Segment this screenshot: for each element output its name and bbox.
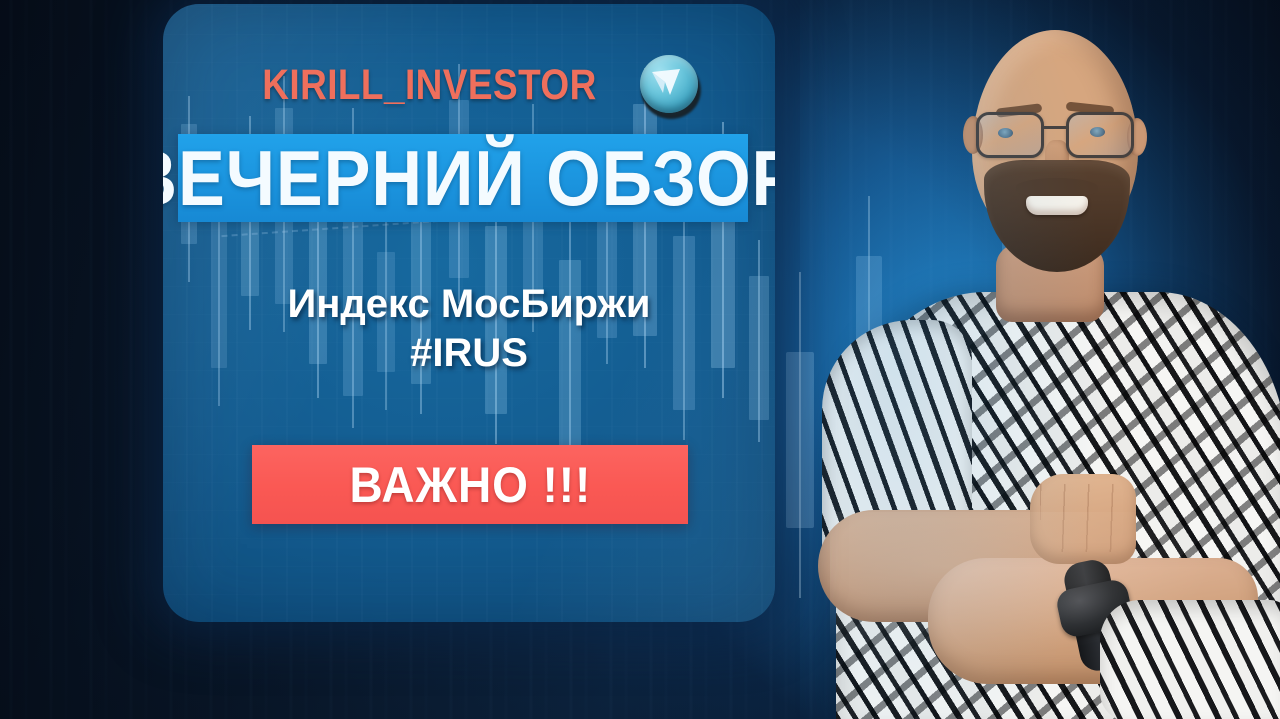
presenter-photo bbox=[800, 0, 1280, 719]
tshirt-sleeve-right bbox=[1100, 600, 1280, 719]
paper-plane-glyph bbox=[650, 65, 682, 97]
lens-left bbox=[976, 112, 1044, 158]
eyeglasses-icon bbox=[976, 108, 1136, 166]
alert-label: ВАЖНО !!! bbox=[349, 456, 591, 514]
channel-handle: KIRILL_INVESTOR bbox=[262, 61, 597, 110]
telegram-paper-plane-icon[interactable] bbox=[637, 52, 703, 118]
evening-review-banner: ВЕЧЕРНИЙ ОБЗОР bbox=[178, 134, 748, 222]
banner-title: ВЕЧЕРНИЙ ОБЗОР bbox=[163, 143, 775, 213]
mouth-smile bbox=[1026, 196, 1088, 215]
hand-left bbox=[1030, 474, 1136, 564]
info-card: KIRILL_INVESTOR ВЕЧЕРНИЙ ОБЗОР Индекс Мо… bbox=[163, 4, 775, 622]
subtitle-line-2: #IRUS bbox=[163, 329, 775, 378]
thumbnail-stage: KIRILL_INVESTOR ВЕЧЕРНИЙ ОБЗОР Индекс Мо… bbox=[0, 0, 1280, 719]
channel-handle-row: KIRILL_INVESTOR bbox=[163, 52, 775, 118]
card-content: KIRILL_INVESTOR ВЕЧЕРНИЙ ОБЗОР Индекс Мо… bbox=[163, 4, 775, 622]
important-alert-bar[interactable]: ВАЖНО !!! bbox=[252, 445, 688, 524]
lens-right bbox=[1066, 112, 1134, 158]
moustache bbox=[1016, 178, 1098, 197]
subtitle-line-1: Индекс МосБиржи bbox=[287, 282, 650, 326]
glasses-bridge bbox=[1044, 126, 1068, 129]
index-subtitle: Индекс МосБиржи #IRUS bbox=[163, 280, 775, 378]
